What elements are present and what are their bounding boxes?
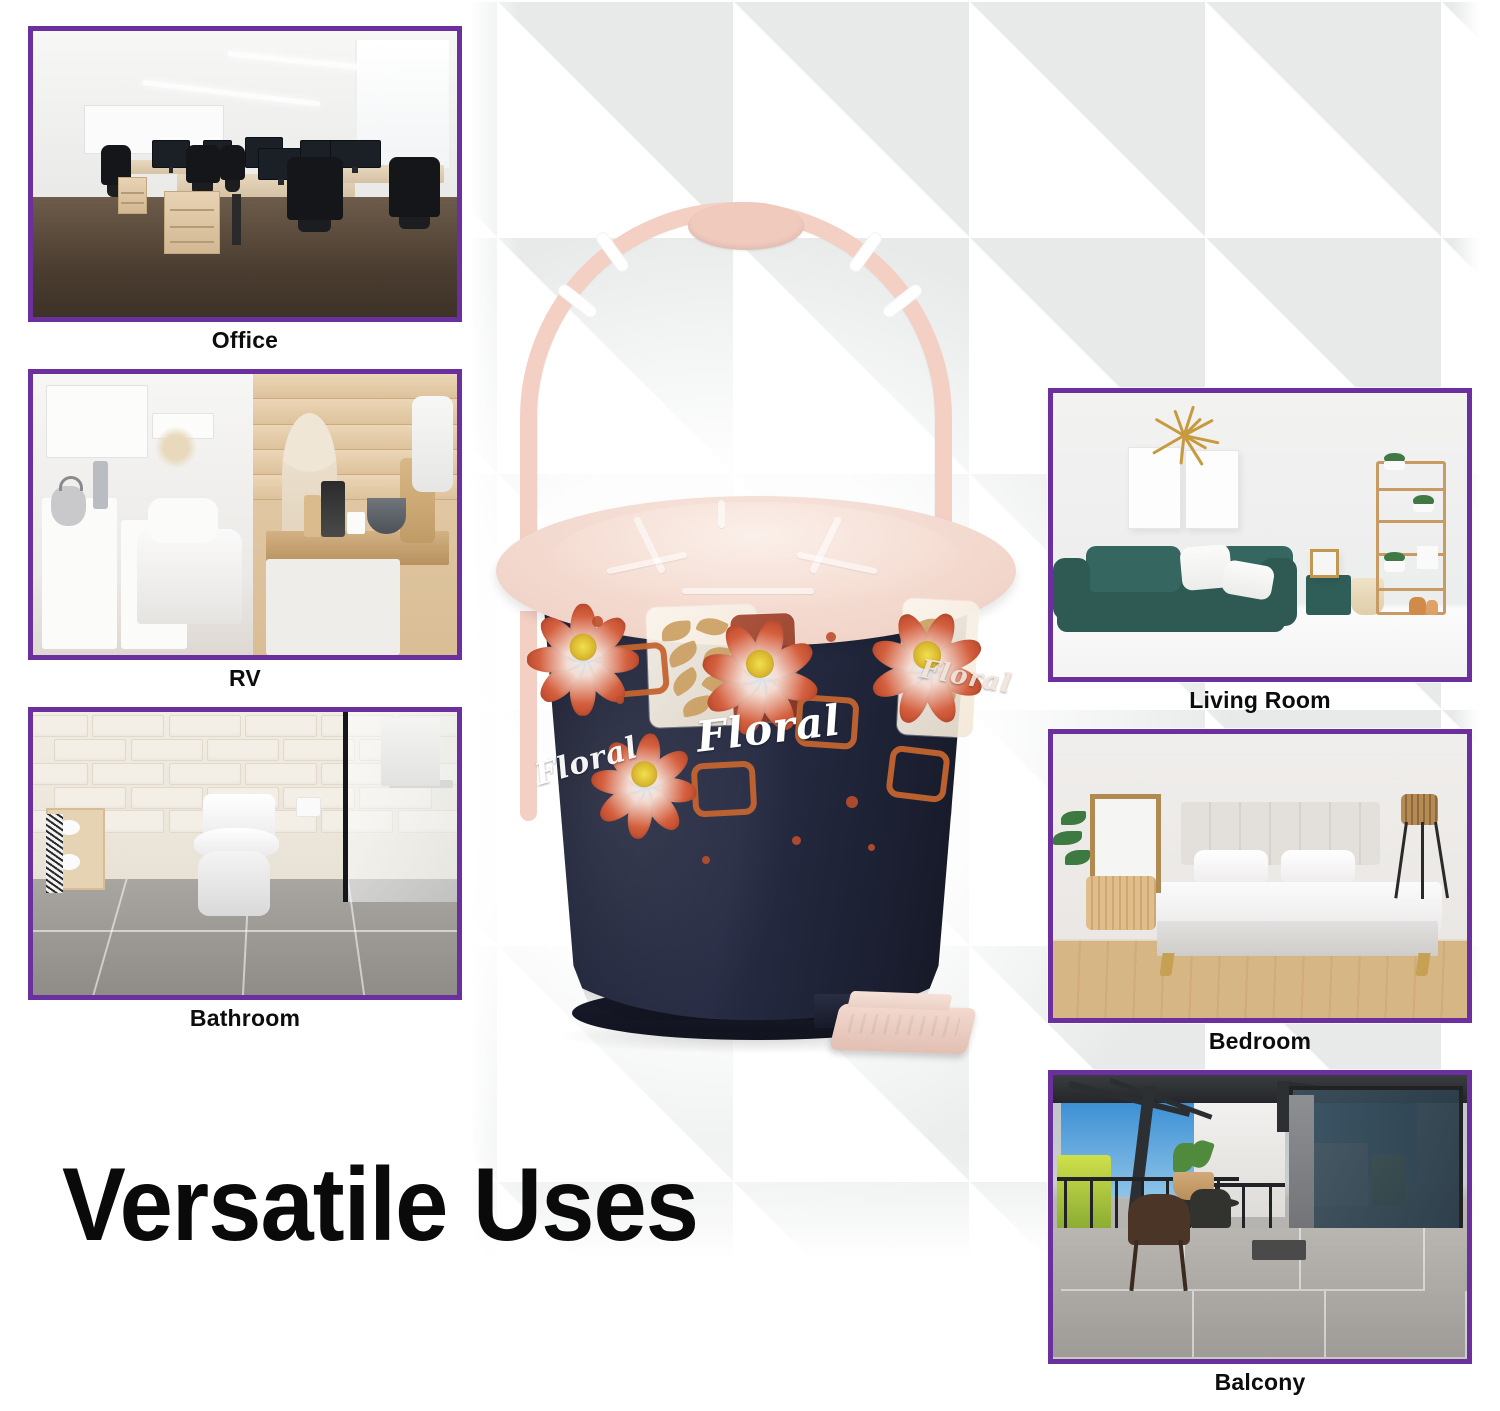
artwork-dot xyxy=(702,856,710,864)
panel-image-office[interactable] xyxy=(28,26,462,322)
foot-pedal[interactable] xyxy=(829,1004,977,1055)
artwork-dot xyxy=(868,844,875,851)
panel-block-office: Office xyxy=(28,26,462,363)
panel-image-bedroom[interactable] xyxy=(1048,729,1472,1023)
page-headline: Versatile Uses xyxy=(62,1146,698,1265)
right-panel-column: Living Room xyxy=(1048,388,1472,1411)
artwork-dot xyxy=(792,836,801,845)
panel-label-rv: RV xyxy=(28,660,462,701)
artwork-dot xyxy=(592,616,603,627)
panel-image-balcony[interactable] xyxy=(1048,1070,1472,1364)
scene-office xyxy=(33,31,457,317)
panel-label-bathroom: Bathroom xyxy=(28,1000,462,1041)
panel-block-rv: RV xyxy=(28,369,462,701)
scene-rv xyxy=(33,374,457,655)
artwork-square-outline xyxy=(691,760,758,817)
panel-block-bathroom: Bathroom xyxy=(28,707,462,1041)
panel-block-living-room: Living Room xyxy=(1048,388,1472,723)
scene-balcony xyxy=(1053,1075,1467,1359)
panel-block-bedroom: Bedroom xyxy=(1048,729,1472,1064)
scene-bathroom xyxy=(33,712,457,995)
panel-block-balcony: Balcony xyxy=(1048,1070,1472,1405)
lid-rib xyxy=(718,500,725,528)
panel-label-bedroom: Bedroom xyxy=(1048,1023,1472,1064)
product-pedal-dustbin[interactable]: Floral Floral Floral xyxy=(496,196,1016,1096)
left-panel-column: Office xyxy=(28,26,462,1047)
scene-bedroom xyxy=(1053,734,1467,1018)
artwork-dot xyxy=(826,632,836,642)
bin-lid-dome[interactable] xyxy=(554,502,958,614)
artwork-dot xyxy=(846,796,858,808)
artwork-square-outline xyxy=(604,641,670,698)
panel-image-bathroom[interactable] xyxy=(28,707,462,1000)
scene-living-room xyxy=(1053,393,1467,677)
lid-rib xyxy=(682,588,814,594)
panel-label-office: Office xyxy=(28,322,462,363)
panel-image-rv[interactable] xyxy=(28,369,462,660)
panel-label-living-room: Living Room xyxy=(1048,682,1472,723)
panel-image-living-room[interactable] xyxy=(1048,388,1472,682)
artwork-square-outline xyxy=(885,745,951,804)
artwork-dot xyxy=(616,696,624,704)
handle-grip-pad xyxy=(688,202,804,250)
